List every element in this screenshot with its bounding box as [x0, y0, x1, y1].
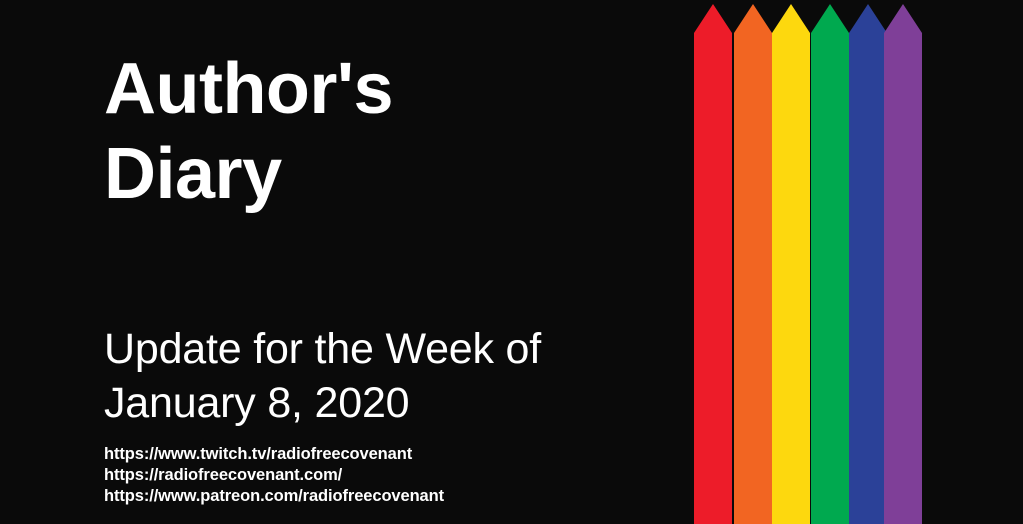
pencil-orange-icon: [734, 4, 772, 524]
page-subtitle: Update for the Week of January 8, 2020: [104, 322, 541, 430]
link-twitch[interactable]: https://www.twitch.tv/radiofreecovenant: [104, 444, 444, 465]
page-title: Author's Diary: [104, 47, 393, 217]
link-website[interactable]: https://radiofreecovenant.com/: [104, 465, 444, 486]
pencils-svg: [694, 0, 922, 524]
link-list: https://www.twitch.tv/radiofreecovenant …: [104, 444, 444, 507]
text-column: Author's Diary Update for the Week of Ja…: [104, 0, 684, 524]
link-patreon[interactable]: https://www.patreon.com/radiofreecovenan…: [104, 486, 444, 507]
slide-canvas: Author's Diary Update for the Week of Ja…: [0, 0, 1023, 524]
pencil-green-icon: [811, 4, 849, 524]
pencil-purple-icon: [884, 4, 922, 524]
pencil-blue-icon: [849, 4, 887, 524]
rainbow-pencils-graphic: [694, 0, 922, 524]
pencil-red-icon: [694, 4, 732, 524]
pencil-yellow-icon: [772, 4, 810, 524]
